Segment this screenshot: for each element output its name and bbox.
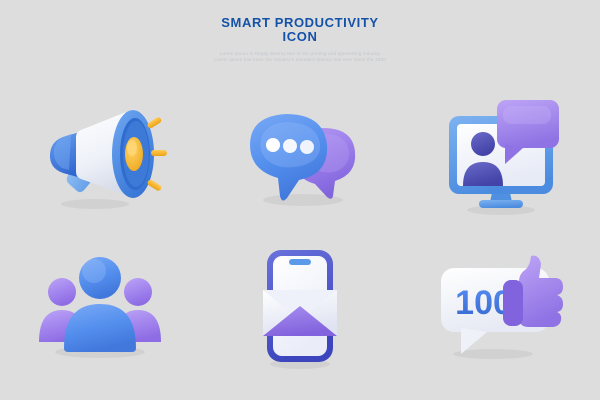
chat-bubble-blue (250, 114, 327, 201)
video-chat-monitor-icon[interactable] (435, 92, 565, 222)
phone-email-icon[interactable] (235, 242, 365, 372)
icon-cell-video-chat-monitor[interactable] (400, 82, 600, 232)
thumbs-up-icon (503, 256, 563, 327)
icon-grid: 1000 (0, 82, 600, 382)
poster-canvas: SMART PRODUCTIVITY ICON Lorem ipsum is s… (0, 0, 600, 400)
page-subtitle: Lorem ipsum is simply dummy text of the … (0, 51, 600, 64)
people-group-person-center (64, 257, 136, 352)
chat-bubbles-icon[interactable] (235, 92, 365, 222)
title-line-2: ICON (0, 30, 600, 44)
icon-cell-chat-bubbles[interactable] (200, 82, 400, 232)
subtitle-line-2: Lorem ipsum has been the industry's stan… (0, 57, 600, 63)
phone-notch (289, 259, 311, 265)
megaphone-inner-horn (125, 137, 143, 171)
icon-cell-megaphone[interactable] (0, 82, 200, 232)
phone-envelope (263, 290, 337, 336)
icon-cell-people-group[interactable] (0, 232, 200, 382)
poster-header: SMART PRODUCTIVITY ICON Lorem ipsum is s… (0, 16, 600, 64)
icon-cell-likes-counter[interactable]: 1000 (400, 232, 600, 382)
megaphone-icon[interactable] (35, 92, 165, 222)
people-group-icon[interactable] (35, 242, 165, 372)
likes-counter-icon[interactable]: 1000 (435, 242, 565, 372)
chat-typing-dots (266, 138, 314, 154)
title-line-1: SMART PRODUCTIVITY (221, 15, 378, 30)
page-title: SMART PRODUCTIVITY ICON (0, 16, 600, 44)
icon-cell-phone-email[interactable] (200, 232, 400, 382)
